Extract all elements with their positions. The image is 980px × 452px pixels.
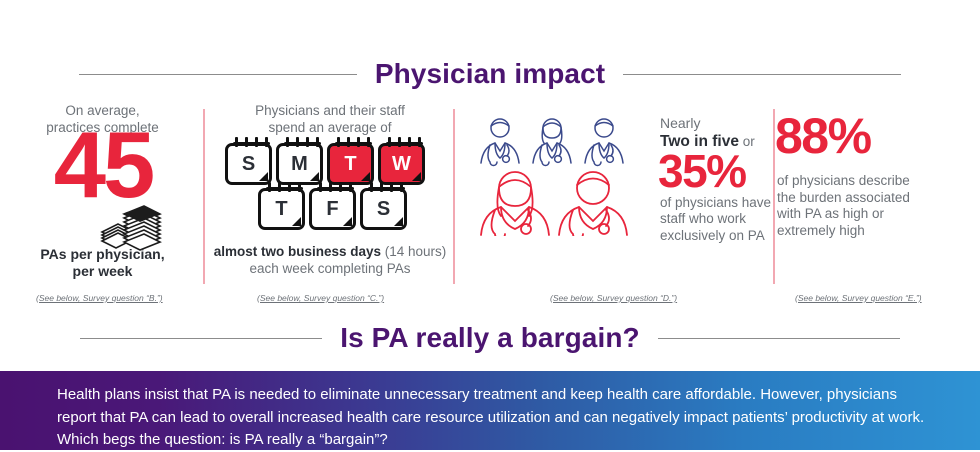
summary-paragraph: Health plans insist that PA is needed to… — [57, 384, 937, 452]
calendar-row-2: T F S — [225, 188, 440, 230]
heading-rule-right-bottom — [658, 338, 900, 339]
calendar-day-mon: M — [276, 143, 323, 185]
section-heading-top: Physician impact — [0, 58, 980, 90]
calendar-day-letter: F — [326, 198, 338, 221]
calendar-icon-group: S M T W — [225, 143, 440, 230]
calendar-day-fri: F — [309, 188, 356, 230]
panel-88-caption[interactable]: (See below, Survey question “E.”) — [795, 293, 922, 303]
calendar-day-sun: S — [225, 143, 272, 185]
paper-stack-icon — [98, 200, 164, 252]
calendar-day-letter: M — [291, 153, 308, 176]
panel-calendar-caption[interactable]: (See below, Survey question “C.”) — [257, 293, 384, 303]
heading-rule-left-bottom — [80, 338, 322, 339]
calendar-day-sat: S — [360, 188, 407, 230]
panel-35-text: Nearly Two in five or 35% of physicians … — [660, 115, 780, 244]
panel-88-body: of physicians describe the burden associ… — [777, 173, 957, 239]
panel-45-label: PAs per physician, per week — [0, 246, 205, 280]
calendar-day-letter: S — [242, 153, 255, 176]
calendar-day-letter: W — [392, 153, 411, 176]
heading-rule-right — [623, 74, 901, 75]
page-title: Physician impact — [375, 60, 605, 88]
panel-calendar-label-line2: each week completing PAs — [249, 261, 410, 276]
panel-88-value: 88% — [775, 115, 871, 158]
panel-calendar-label: almost two business days (14 hours) each… — [203, 243, 457, 277]
stat-panel-88: 88% of physicians describe the burden as… — [775, 103, 980, 303]
stat-panel-calendar: Physicians and their staff spend an aver… — [205, 103, 455, 303]
panel-35-caption[interactable]: (See below, Survey question “D.”) — [550, 293, 677, 303]
infographic-page: Physician impact On average, practices c… — [0, 0, 980, 450]
panel-35-body: of physicians have staff who work exclus… — [660, 195, 780, 245]
panel-35-lead: Nearly — [660, 115, 780, 132]
panel-calendar-label-hours: (14 hours) — [381, 244, 446, 259]
calendar-day-tue-highlight: T — [327, 143, 374, 185]
panel-calendar-intro: Physicians and their staff spend an aver… — [205, 103, 455, 136]
calendar-day-wed-highlight: W — [378, 143, 425, 185]
calendar-row-1: S M T W — [225, 143, 440, 185]
stat-panel-45: On average, practices complete 45 — [0, 103, 205, 303]
stats-panel-row: On average, practices complete 45 — [0, 103, 980, 303]
calendar-day-letter: T — [275, 198, 287, 221]
calendar-day-thu: T — [258, 188, 305, 230]
panel-45-caption[interactable]: (See below, Survey question “B.”) — [36, 293, 163, 303]
section-heading-bottom: Is PA really a bargain? — [0, 322, 980, 354]
heading-rule-left — [79, 74, 357, 75]
calendar-day-letter: S — [377, 198, 390, 221]
panel-45-value: 45 — [8, 125, 198, 206]
stat-panel-35: Nearly Two in five or 35% of physicians … — [455, 103, 775, 303]
panel-35-value: 35% — [658, 150, 780, 194]
section-title-bargain: Is PA really a bargain? — [340, 324, 640, 352]
panel-calendar-label-bold: almost two business days — [214, 244, 381, 259]
summary-band: Health plans insist that PA is needed to… — [0, 371, 980, 450]
doctors-group-icon — [477, 111, 657, 236]
calendar-day-letter: T — [344, 153, 356, 176]
